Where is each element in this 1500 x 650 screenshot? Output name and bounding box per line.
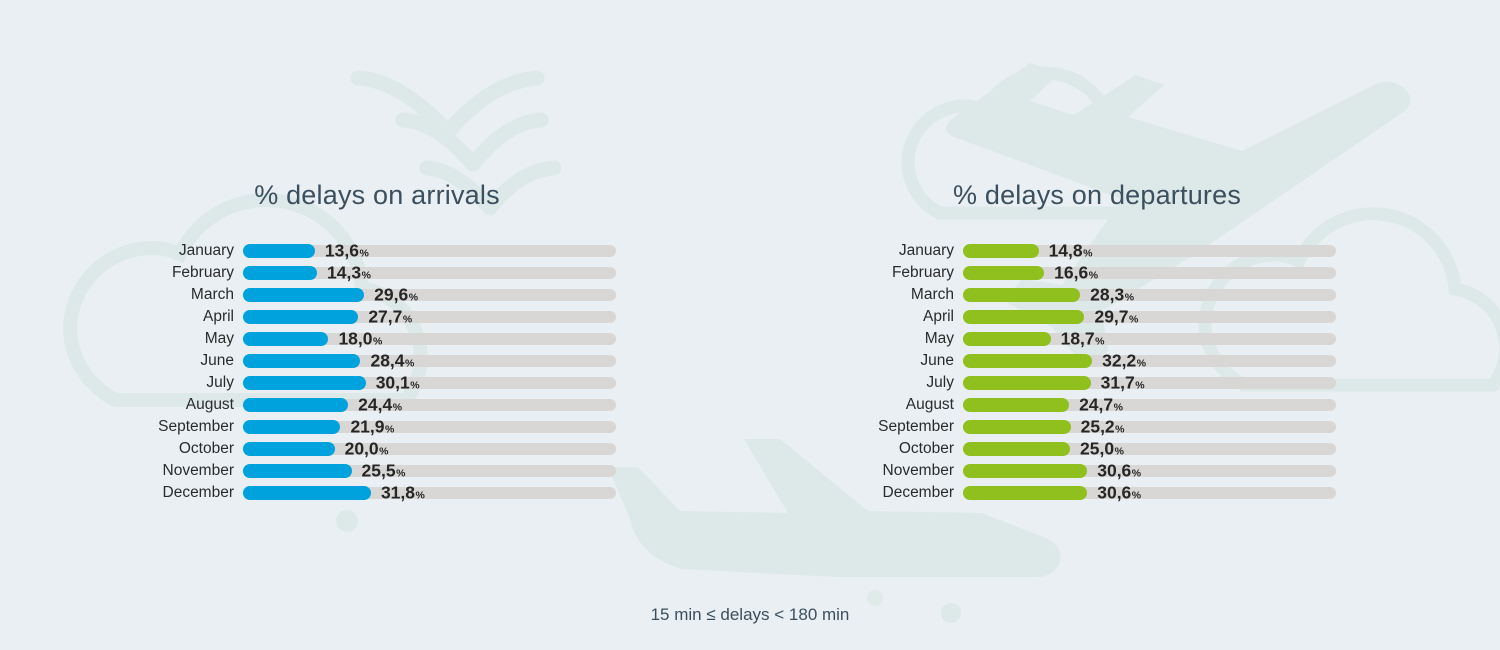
percent-sign: % (1095, 335, 1104, 347)
bar-track-wrap: 13,6% (243, 240, 650, 262)
bar-row-label: July (850, 375, 963, 391)
bar-fill (963, 310, 1084, 324)
percent-sign: % (1137, 357, 1146, 369)
bar-rows-departures: January14,8%February16,6%March28,3%April… (850, 240, 1370, 504)
bar-value-number: 28,3 (1090, 284, 1124, 304)
bar-row-label: May (850, 331, 963, 347)
bar-value-label: 30,6% (1097, 462, 1141, 480)
bar-row-arrivals: May18,0% (130, 328, 650, 350)
bar-fill (963, 332, 1051, 346)
bar-fill (963, 442, 1070, 456)
bar-row-label: April (850, 309, 963, 325)
bar-row-departures: April29,7% (850, 306, 1370, 328)
bar-row-departures: June32,2% (850, 350, 1370, 372)
bar-row-arrivals: October20,0% (130, 438, 650, 460)
bar-value-label: 28,3% (1090, 286, 1134, 304)
bar-row-label: July (130, 375, 243, 391)
bar-value-number: 28,4 (370, 350, 404, 370)
bar-row-label: June (130, 353, 243, 369)
bar-value-number: 24,7 (1079, 394, 1113, 414)
bar-row-departures: September25,2% (850, 416, 1370, 438)
percent-sign: % (1129, 313, 1138, 325)
bar-value-label: 18,0% (338, 330, 382, 348)
infographic-canvas: % delays on arrivals January13,6%Februar… (0, 0, 1500, 650)
bar-value-number: 29,6 (374, 284, 408, 304)
bar-row-arrivals: February14,3% (130, 262, 650, 284)
bar-value-number: 24,4 (358, 394, 392, 414)
decor-dot-icon (336, 510, 358, 532)
bar-row-departures: December30,6% (850, 482, 1370, 504)
bar-row-label: January (850, 243, 963, 259)
bar-fill (963, 244, 1039, 258)
bar-value-number: 25,5 (362, 460, 396, 480)
bar-value-label: 29,6% (374, 286, 418, 304)
bar-row-label: February (130, 265, 243, 281)
bar-row-label: December (850, 485, 963, 501)
bar-value-number: 18,0 (338, 328, 372, 348)
bar-row-arrivals: April27,7% (130, 306, 650, 328)
bar-track-wrap: 25,5% (243, 460, 650, 482)
bar-fill (243, 332, 328, 346)
percent-sign: % (1125, 291, 1134, 303)
bar-row-label: June (850, 353, 963, 369)
decor-dot-icon (867, 590, 883, 606)
percent-sign: % (1132, 489, 1141, 501)
bar-value-label: 18,7% (1061, 330, 1105, 348)
bar-track-wrap: 24,7% (963, 394, 1370, 416)
bar-value-number: 30,1 (376, 372, 410, 392)
bar-value-label: 14,8% (1049, 242, 1093, 260)
bar-value-label: 28,4% (370, 352, 414, 370)
bar-fill (243, 288, 364, 302)
bar-row-label: November (850, 463, 963, 479)
bar-fill (243, 310, 358, 324)
bar-value-number: 27,7 (368, 306, 402, 326)
bar-row-label: October (850, 441, 963, 457)
percent-sign: % (409, 291, 418, 303)
bar-row-label: September (130, 419, 243, 435)
bar-track-wrap: 25,0% (963, 438, 1370, 460)
bar-value-label: 24,4% (358, 396, 402, 414)
bar-row-label: February (850, 265, 963, 281)
bar-row-label: May (130, 331, 243, 347)
bar-track-wrap: 16,6% (963, 262, 1370, 284)
bar-value-number: 13,6 (325, 240, 359, 260)
bar-value-label: 30,1% (376, 374, 420, 392)
bar-fill (243, 442, 335, 456)
bar-value-number: 31,7 (1101, 372, 1135, 392)
percent-sign: % (1089, 269, 1098, 281)
bar-row-departures: February16,6% (850, 262, 1370, 284)
bar-value-number: 18,7 (1061, 328, 1095, 348)
percent-sign: % (1083, 247, 1092, 259)
percent-sign: % (1115, 423, 1124, 435)
percent-sign: % (379, 445, 388, 457)
bar-row-departures: July31,7% (850, 372, 1370, 394)
bar-row-label: August (850, 397, 963, 413)
bar-value-label: 27,7% (368, 308, 412, 326)
bar-row-label: September (850, 419, 963, 435)
chart-title-arrivals: % delays on arrivals (130, 178, 650, 212)
bar-row-label: March (130, 287, 243, 303)
bar-fill (963, 420, 1071, 434)
bar-value-number: 25,0 (1080, 438, 1114, 458)
bar-row-departures: January14,8% (850, 240, 1370, 262)
bar-track-wrap: 30,6% (963, 482, 1370, 504)
percent-sign: % (410, 379, 419, 391)
bar-track-wrap: 18,0% (243, 328, 650, 350)
bar-track-wrap: 20,0% (243, 438, 650, 460)
percent-sign: % (373, 335, 382, 347)
bar-fill (963, 398, 1069, 412)
bar-value-label: 20,0% (345, 440, 389, 458)
bar-row-arrivals: March29,6% (130, 284, 650, 306)
percent-sign: % (1114, 401, 1123, 413)
bar-row-arrivals: January13,6% (130, 240, 650, 262)
bar-value-label: 21,9% (350, 418, 394, 436)
bar-fill (243, 266, 317, 280)
bar-value-number: 25,2 (1081, 416, 1115, 436)
bar-track-wrap: 30,6% (963, 460, 1370, 482)
percent-sign: % (1135, 379, 1144, 391)
bar-value-number: 20,0 (345, 438, 379, 458)
bar-row-arrivals: November25,5% (130, 460, 650, 482)
percent-sign: % (396, 467, 405, 479)
bar-rows-arrivals: January13,6%February14,3%March29,6%April… (130, 240, 650, 504)
bar-track-wrap: 25,2% (963, 416, 1370, 438)
bar-row-label: October (130, 441, 243, 457)
bar-value-label: 29,7% (1094, 308, 1138, 326)
percent-sign: % (362, 269, 371, 281)
bar-value-label: 31,7% (1101, 374, 1145, 392)
footer-note: 15 min ≤ delays < 180 min (0, 605, 1500, 625)
bar-track-wrap: 14,8% (963, 240, 1370, 262)
bar-track-wrap: 14,3% (243, 262, 650, 284)
bar-track-wrap: 32,2% (963, 350, 1370, 372)
bar-fill (243, 376, 366, 390)
bar-row-departures: August24,7% (850, 394, 1370, 416)
bar-value-number: 32,2 (1102, 350, 1136, 370)
bar-track-wrap: 21,9% (243, 416, 650, 438)
bar-track-wrap: 28,3% (963, 284, 1370, 306)
bar-row-label: December (130, 485, 243, 501)
bar-value-label: 13,6% (325, 242, 369, 260)
bar-fill (243, 464, 352, 478)
percent-sign: % (403, 313, 412, 325)
bar-row-arrivals: July30,1% (130, 372, 650, 394)
percent-sign: % (385, 423, 394, 435)
bar-track-wrap: 30,1% (243, 372, 650, 394)
bar-fill (243, 354, 360, 368)
percent-sign: % (416, 489, 425, 501)
bar-fill (963, 288, 1080, 302)
bar-value-number: 16,6 (1054, 262, 1088, 282)
bar-track-wrap: 28,4% (243, 350, 650, 372)
bar-track-wrap: 29,7% (963, 306, 1370, 328)
bar-value-number: 14,8 (1049, 240, 1083, 260)
bar-value-label: 25,2% (1081, 418, 1125, 436)
bar-value-number: 30,6 (1097, 482, 1131, 502)
percent-sign: % (393, 401, 402, 413)
percent-sign: % (1115, 445, 1124, 457)
bar-row-departures: March28,3% (850, 284, 1370, 306)
bar-value-label: 14,3% (327, 264, 371, 282)
bar-track-wrap: 31,7% (963, 372, 1370, 394)
bar-row-label: March (850, 287, 963, 303)
bar-value-number: 29,7 (1094, 306, 1128, 326)
percent-sign: % (359, 247, 368, 259)
bar-row-arrivals: December31,8% (130, 482, 650, 504)
bar-track-wrap: 27,7% (243, 306, 650, 328)
bar-value-label: 32,2% (1102, 352, 1146, 370)
bar-fill (963, 376, 1091, 390)
bar-fill (243, 486, 371, 500)
bar-row-arrivals: June28,4% (130, 350, 650, 372)
percent-sign: % (1132, 467, 1141, 479)
bar-value-label: 31,8% (381, 484, 425, 502)
bar-fill (963, 266, 1044, 280)
chart-title-departures: % delays on departures (850, 178, 1370, 212)
bar-row-label: November (130, 463, 243, 479)
bar-track-wrap: 29,6% (243, 284, 650, 306)
bar-fill (963, 486, 1087, 500)
bar-value-number: 14,3 (327, 262, 361, 282)
bar-track-wrap: 18,7% (963, 328, 1370, 350)
bar-value-number: 31,8 (381, 482, 415, 502)
bar-fill (963, 464, 1087, 478)
bar-row-departures: May18,7% (850, 328, 1370, 350)
chart-panel-departures: % delays on departures January14,8%Febru… (850, 178, 1370, 504)
bar-value-number: 30,6 (1097, 460, 1131, 480)
percent-sign: % (405, 357, 414, 369)
bar-track-wrap: 24,4% (243, 394, 650, 416)
bar-fill (243, 420, 340, 434)
bar-value-label: 25,5% (362, 462, 406, 480)
bar-fill (243, 244, 315, 258)
chart-panel-arrivals: % delays on arrivals January13,6%Februar… (130, 178, 650, 504)
bar-value-label: 16,6% (1054, 264, 1098, 282)
bar-value-number: 21,9 (350, 416, 384, 436)
bar-value-label: 24,7% (1079, 396, 1123, 414)
bar-row-arrivals: September21,9% (130, 416, 650, 438)
bar-fill (963, 354, 1092, 368)
bar-fill (243, 398, 348, 412)
bar-row-label: April (130, 309, 243, 325)
bar-row-departures: October25,0% (850, 438, 1370, 460)
bar-row-label: August (130, 397, 243, 413)
bar-row-arrivals: August24,4% (130, 394, 650, 416)
bar-value-label: 30,6% (1097, 484, 1141, 502)
bar-value-label: 25,0% (1080, 440, 1124, 458)
bar-row-departures: November30,6% (850, 460, 1370, 482)
bar-row-label: January (130, 243, 243, 259)
bar-track-wrap: 31,8% (243, 482, 650, 504)
